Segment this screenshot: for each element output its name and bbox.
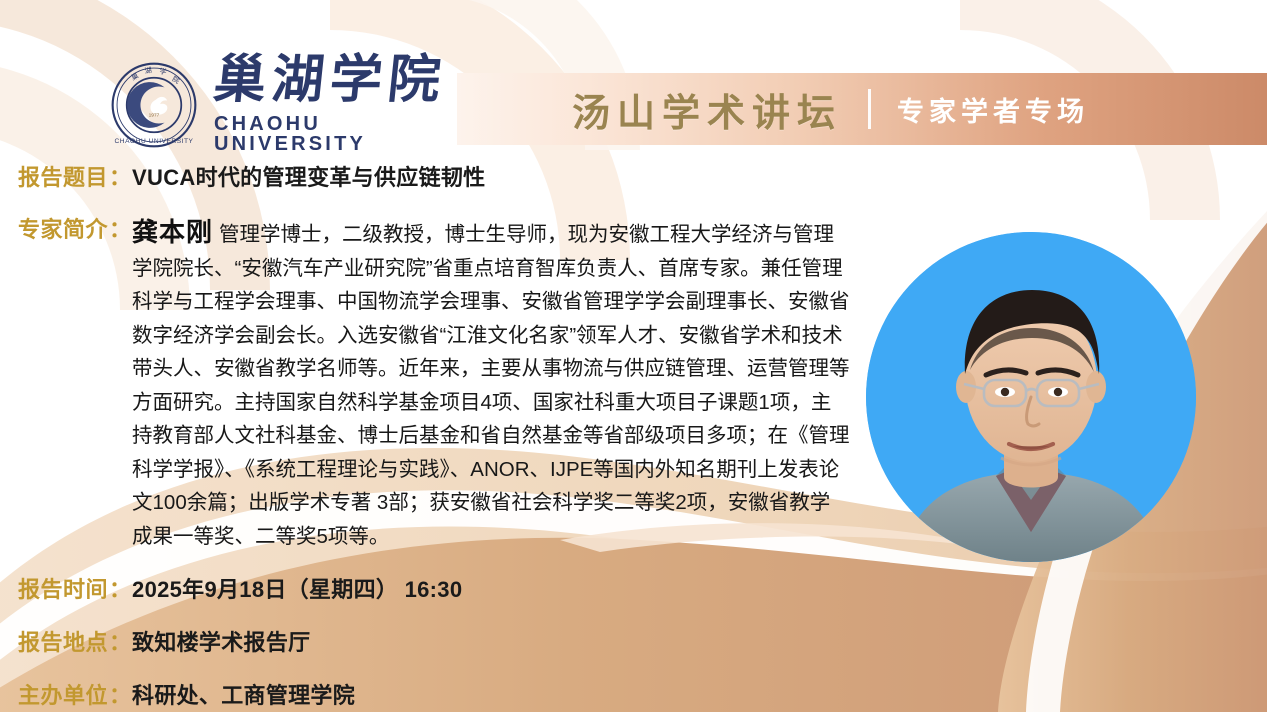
lecture-organizer-row: 主办单位 ： 科研处、工商管理学院	[18, 678, 355, 710]
logo-english-name: CHAOHU UNIVERSITY	[214, 114, 460, 154]
lecture-time-label: 报告时间	[18, 572, 108, 604]
logo-chinese-name: 巢湖学院	[211, 55, 462, 107]
speaker-name: 龚本刚	[132, 217, 213, 247]
svg-text:CHAOHU UNIVERSITY: CHAOHU UNIVERSITY	[115, 137, 194, 144]
svg-text:1977: 1977	[149, 112, 160, 118]
lecture-place-colon: ：	[109, 625, 131, 657]
speaker-bio-label: 专家简介	[18, 212, 108, 244]
lecture-title-colon: ：	[109, 160, 131, 192]
svg-text:学: 学	[159, 66, 167, 76]
lecture-time-colon: ：	[109, 572, 131, 604]
speaker-bio-row: 专家简介 ： 龚本刚管理学博士，二级教授，博士生导师，现为安徽工程大学经济与管理…	[18, 212, 850, 553]
banner-divider	[868, 89, 871, 129]
lecture-place-row: 报告地点 ： 致知楼学术报告厅	[18, 625, 310, 657]
lecture-title-row: 报告题目 ： VUCA时代的管理变革与供应链韧性	[18, 160, 485, 192]
lecture-title-value: VUCA时代的管理变革与供应链韧性	[132, 160, 485, 192]
speaker-bio-colon: ：	[109, 212, 131, 244]
lecture-organizer-colon: ：	[109, 678, 131, 710]
svg-text:湖: 湖	[144, 65, 152, 75]
speaker-portrait	[866, 232, 1196, 562]
university-seal-icon: CHAOHU UNIVERSITY 1977 巢 湖 学 院	[110, 61, 198, 149]
lecture-place-label: 报告地点	[18, 625, 108, 657]
svg-text:巢: 巢	[130, 70, 140, 81]
forum-banner: 汤山学术讲坛 专家学者专场	[457, 73, 1267, 145]
lecture-place-value: 致知楼学术报告厅	[132, 625, 310, 657]
lecture-time-value: 2025年9月18日（星期四） 16:30	[132, 572, 462, 604]
speaker-portrait-image	[866, 232, 1196, 562]
lecture-organizer-label: 主办单位	[18, 678, 108, 710]
speaker-bio-body: 龚本刚管理学博士，二级教授，博士生导师，现为安徽工程大学经济与管理学院院长、“安…	[132, 212, 850, 553]
lecture-organizer-value: 科研处、工商管理学院	[132, 678, 355, 710]
poster-root: CHAOHU UNIVERSITY 1977 巢 湖 学 院 巢湖学院 CHAO…	[0, 0, 1267, 712]
university-logo: CHAOHU UNIVERSITY 1977 巢 湖 学 院 巢湖学院 CHAO…	[110, 52, 460, 157]
lecture-time-row: 报告时间 ： 2025年9月18日（星期四） 16:30	[18, 572, 462, 604]
banner-subtitle: 专家学者专场	[897, 90, 1089, 129]
lecture-title-label: 报告题目	[18, 160, 108, 192]
speaker-bio-text: 管理学博士，二级教授，博士生导师，现为安徽工程大学经济与管理学院院长、“安徽汽车…	[132, 223, 850, 548]
banner-title: 汤山学术讲坛	[572, 82, 842, 137]
